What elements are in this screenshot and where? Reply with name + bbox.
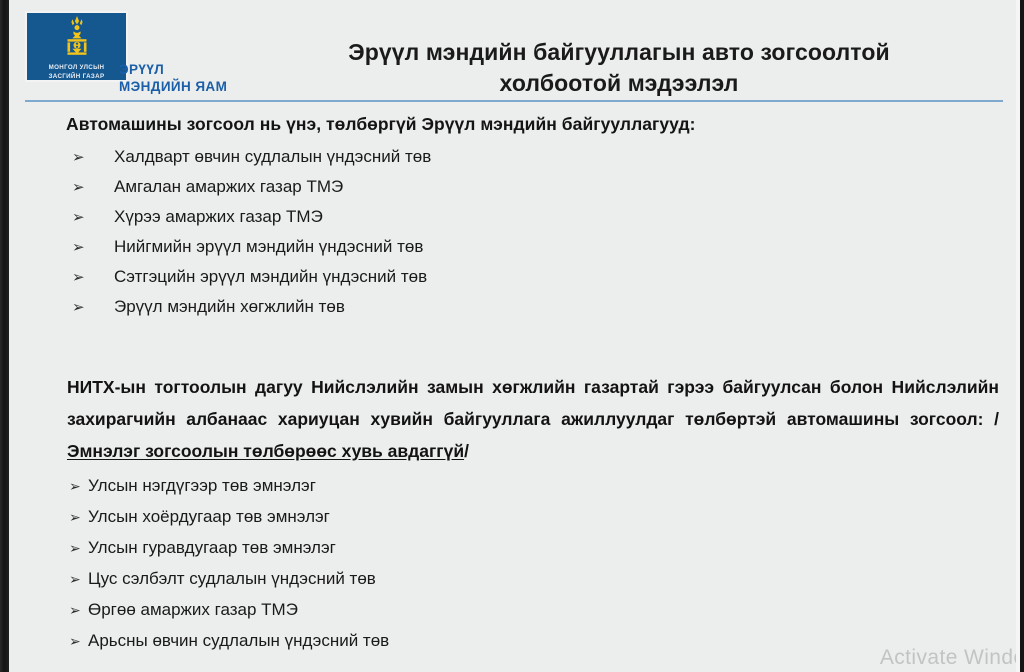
ministry-name: ЭРҮҮЛ МЭНДИЙН ЯАМ: [119, 61, 227, 95]
slide-viewer: МОНГОЛ УЛСЫН ЗАСГИЙН ГАЗАР ЭРҮҮЛ МЭНДИЙН…: [0, 0, 1024, 672]
arrow-bullet-icon: ➢: [69, 478, 88, 495]
arrow-bullet-icon: ➢: [69, 571, 88, 588]
list-item: ➢ Цус сэлбэлт судлалын үндэсний төв: [69, 569, 389, 600]
free-parking-heading: Автомашины зогсоол нь үнэ, төлбөргүй Эрү…: [66, 114, 696, 135]
free-parking-list: ➢ Халдварт өвчин судлалын үндэсний төв ➢…: [72, 147, 431, 327]
arrow-bullet-icon: ➢: [69, 633, 88, 650]
list-item-label: Халдварт өвчин судлалын үндэсний төв: [114, 147, 431, 167]
list-item: ➢ Нийгмийн эрүүл мэндийн үндэсний төв: [72, 237, 431, 267]
arrow-bullet-icon: ➢: [72, 268, 114, 286]
list-item-label: Амгалан амаржих газар ТМЭ: [114, 177, 343, 197]
ministry-name-line2: МЭНДИЙН ЯАМ: [119, 78, 227, 95]
list-item: ➢ Халдварт өвчин судлалын үндэсний төв: [72, 147, 431, 177]
header-divider: [25, 100, 1003, 102]
arrow-bullet-icon: ➢: [72, 148, 114, 166]
arrow-bullet-icon: ➢: [72, 208, 114, 226]
list-item-label: Хүрээ амаржих газар ТМЭ: [114, 207, 323, 227]
soyombo-emblem-icon: [55, 15, 99, 62]
list-item: ➢ Сэтгэцийн эрүүл мэндийн үндэсний төв: [72, 267, 431, 297]
list-item: ➢ Улсын гуравдугаар төв эмнэлэг: [69, 538, 389, 569]
list-item: ➢ Улсын нэгдүгээр төв эмнэлэг: [69, 476, 389, 507]
arrow-bullet-icon: ➢: [72, 238, 114, 256]
paid-parking-paragraph: НИТХ-ын тогтоолын дагуу Нийслэлийн замын…: [67, 371, 999, 467]
list-item-label: Эрүүл мэндийн хөгжлийн төв: [114, 297, 345, 317]
list-item-label: Сэтгэцийн эрүүл мэндийн үндэсний төв: [114, 267, 427, 287]
list-item-label: Улсын гуравдугаар төв эмнэлэг: [88, 538, 336, 558]
slide-title-line1: Эрүүл мэндийн байгууллагын авто зогсоолт…: [348, 39, 889, 65]
list-item: ➢ Эрүүл мэндийн хөгжлийн төв: [72, 297, 431, 327]
list-item: ➢ Өргөө амаржих газар ТМЭ: [69, 600, 389, 631]
paragraph-part1: НИТХ-ын тогтоолын дагуу Нийслэлийн замын…: [67, 377, 999, 429]
ministry-name-line1: ЭРҮҮЛ: [119, 61, 227, 78]
viewer-left-gutter: [0, 0, 9, 672]
activate-windows-watermark: Activate Windows: [880, 646, 1020, 670]
paragraph-underlined-note: Эмнэлэг зогсоолын төлбөрөөс хувь авдаггү…: [67, 441, 464, 461]
government-logo: МОНГОЛ УЛСЫН ЗАСГИЙН ГАЗАР: [25, 11, 128, 82]
arrow-bullet-icon: ➢: [69, 509, 88, 526]
list-item-label: Өргөө амаржих газар ТМЭ: [88, 600, 298, 620]
arrow-bullet-icon: ➢: [72, 178, 114, 196]
list-item-label: Цус сэлбэлт судлалын үндэсний төв: [88, 569, 376, 589]
slide-header: МОНГОЛ УЛСЫН ЗАСГИЙН ГАЗАР ЭРҮҮЛ МЭНДИЙН…: [9, 0, 1016, 100]
arrow-bullet-icon: ➢: [69, 540, 88, 557]
list-item: ➢ Арьсны өвчин судлалын үндэсний төв: [69, 631, 389, 662]
paragraph-part2: /: [464, 441, 469, 461]
list-item-label: Арьсны өвчин судлалын үндэсний төв: [88, 631, 389, 651]
presentation-slide: МОНГОЛ УЛСЫН ЗАСГИЙН ГАЗАР ЭРҮҮЛ МЭНДИЙН…: [9, 0, 1020, 672]
logo-text-line2: ЗАСГИЙН ГАЗАР: [49, 72, 105, 81]
arrow-bullet-icon: ➢: [69, 602, 88, 619]
logo-text-line1: МОНГОЛ УЛСЫН: [49, 63, 105, 72]
arrow-bullet-icon: ➢: [72, 298, 114, 316]
list-item: ➢ Улсын хоёрдугаар төв эмнэлэг: [69, 507, 389, 538]
slide-title-line2: холбоотой мэдээлэл: [500, 70, 739, 96]
government-logo-text: МОНГОЛ УЛСЫН ЗАСГИЙН ГАЗАР: [49, 63, 105, 81]
list-item-label: Нийгмийн эрүүл мэндийн үндэсний төв: [114, 237, 423, 257]
list-item: ➢ Хүрээ амаржих газар ТМЭ: [72, 207, 431, 237]
list-item-label: Улсын хоёрдугаар төв эмнэлэг: [88, 507, 330, 527]
list-item-label: Улсын нэгдүгээр төв эмнэлэг: [88, 476, 316, 496]
paid-parking-list: ➢ Улсын нэгдүгээр төв эмнэлэг ➢ Улсын хо…: [69, 476, 389, 662]
slide-title: Эрүүл мэндийн байгууллагын авто зогсоолт…: [239, 37, 999, 99]
list-item: ➢ Амгалан амаржих газар ТМЭ: [72, 177, 431, 207]
